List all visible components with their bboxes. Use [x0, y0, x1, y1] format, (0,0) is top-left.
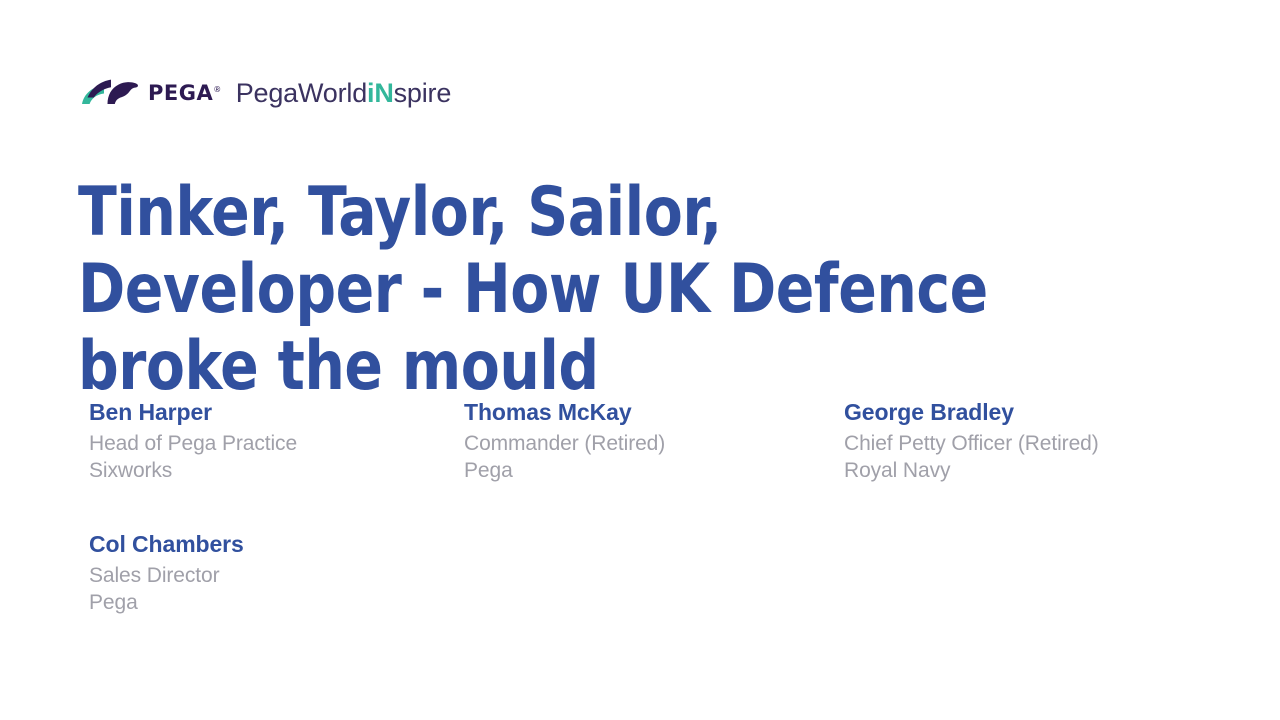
wordmark-in-accent: iN	[367, 78, 394, 108]
speaker-organization: Pega	[89, 589, 449, 616]
pegaworld-inspire-wordmark: PegaWorldiNspire	[236, 80, 451, 107]
title-line-2: Developer - How UK Defence	[78, 251, 1008, 328]
presentation-title-slide: PEGA® PegaWorldiNspire Tinker, Taylor, S…	[0, 0, 1280, 720]
title-line-3: broke the mould	[78, 328, 1008, 405]
speaker-role: Head of Pega Practice	[89, 430, 449, 457]
speaker-card-george-bradley: George Bradley Chief Petty Officer (Reti…	[844, 398, 1224, 484]
speaker-card-ben-harper: Ben Harper Head of Pega Practice Sixwork…	[89, 398, 449, 484]
speaker-row: Col Chambers Sales Director Pega	[0, 530, 1280, 662]
speaker-name: Ben Harper	[89, 398, 449, 427]
speaker-role: Commander (Retired)	[464, 430, 834, 457]
page-title: Tinker, Taylor, Sailor, Developer - How …	[78, 174, 1008, 405]
speaker-name: Col Chambers	[89, 530, 449, 559]
speaker-card-col-chambers: Col Chambers Sales Director Pega	[89, 530, 449, 616]
speaker-role: Chief Petty Officer (Retired)	[844, 430, 1224, 457]
registered-trademark-symbol: ®	[213, 85, 222, 94]
speaker-organization: Royal Navy	[844, 457, 1224, 484]
title-line-1: Tinker, Taylor, Sailor,	[78, 174, 1008, 251]
speaker-name: George Bradley	[844, 398, 1224, 427]
speaker-organization: Pega	[464, 457, 834, 484]
wordmark-spire: spire	[394, 78, 452, 108]
speaker-name: Thomas McKay	[464, 398, 834, 427]
wordmark-pegaworld: PegaWorld	[236, 78, 367, 108]
brand-logo-lockup: PEGA® PegaWorldiNspire	[80, 74, 451, 110]
speaker-list: Ben Harper Head of Pega Practice Sixwork…	[0, 398, 1280, 662]
speaker-card-thomas-mckay: Thomas McKay Commander (Retired) Pega	[464, 398, 834, 484]
speaker-organization: Sixworks	[89, 457, 449, 484]
pega-wordmark-text: PEGA	[148, 81, 213, 105]
pega-horse-logo-icon	[80, 77, 142, 107]
speaker-row: Ben Harper Head of Pega Practice Sixwork…	[0, 398, 1280, 530]
pega-wordmark: PEGA®	[148, 83, 222, 104]
speaker-role: Sales Director	[89, 562, 449, 589]
